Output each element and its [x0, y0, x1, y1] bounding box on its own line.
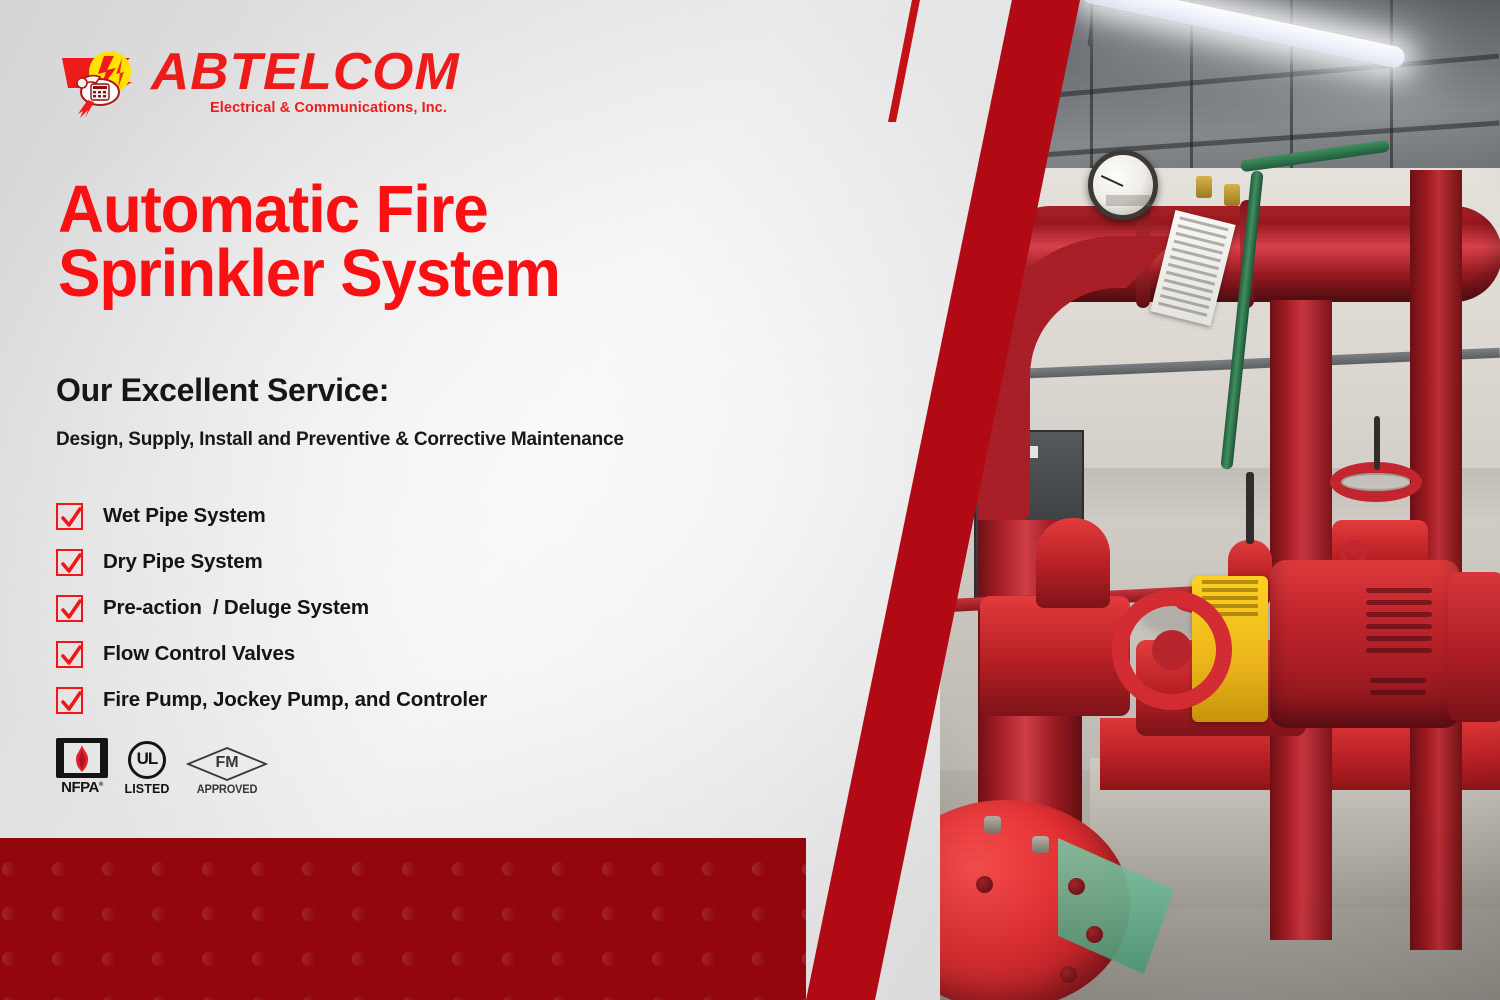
valve-stem: [1374, 416, 1380, 470]
fluorescent-ceiling-light: [1079, 0, 1406, 70]
service-heading: Our Excellent Service:: [56, 372, 389, 409]
badge-ul: UL LISTED: [122, 741, 172, 796]
fm-diamond-icon: FM: [186, 746, 268, 782]
badge-fm-label: APPROVED: [189, 782, 264, 796]
logo-wordmark: ABTELCOM: [151, 46, 460, 98]
service-description: Design, Supply, Install and Preventive &…: [56, 428, 636, 451]
headline-line-1: Automatic Fire: [58, 178, 666, 242]
headline-line-2: Sprinkler System: [58, 242, 666, 306]
abtelcom-lightning-phone-logo-icon: [58, 48, 154, 118]
red-fire-pump-motor: [1270, 560, 1460, 728]
brand-logo[interactable]: ABTELCOM Electrical & Communications, In…: [58, 48, 528, 120]
pump-handwheel-hub: [1152, 630, 1192, 670]
badge-fm: FM APPROVED: [186, 746, 268, 796]
list-item[interactable]: Dry Pipe System: [56, 539, 676, 585]
page-title: Automatic Fire Sprinkler System: [58, 178, 666, 307]
list-item-label: Fire Pump, Jockey Pump, and Controler: [103, 688, 487, 712]
nfpa-flame-icon: [56, 738, 108, 778]
pressure-gauge: [1088, 150, 1158, 220]
list-item-label: Pre-action / Deluge System: [103, 596, 369, 620]
checkbox-checked-icon[interactable]: [56, 503, 83, 530]
checkbox-checked-icon[interactable]: [56, 549, 83, 576]
badge-nfpa: NFPA®: [56, 738, 108, 796]
list-item[interactable]: Fire Pump, Jockey Pump, and Controler: [56, 677, 676, 723]
list-item[interactable]: Pre-action / Deluge System: [56, 585, 676, 631]
list-item[interactable]: Wet Pipe System: [56, 493, 676, 539]
badge-ul-monogram: UL: [131, 749, 163, 769]
second-motor: [1448, 572, 1500, 722]
checkbox-checked-icon[interactable]: [56, 595, 83, 622]
ul-circle-icon: UL: [128, 741, 166, 779]
badge-ul-label: LISTED: [122, 782, 172, 796]
list-item[interactable]: Flow Control Valves: [56, 631, 676, 677]
badge-nfpa-label: NFPA®: [56, 779, 108, 796]
list-item-label: Wet Pipe System: [103, 504, 266, 528]
list-item-label: Dry Pipe System: [103, 550, 263, 574]
poster-canvas: ABTELCOM Electrical & Communications, In…: [0, 0, 1500, 1000]
left-content: ABTELCOM Electrical & Communications, In…: [0, 0, 1060, 1000]
checkbox-checked-icon[interactable]: [56, 641, 83, 668]
service-checklist: Wet Pipe System Dry Pipe System Pre-acti…: [56, 493, 676, 723]
certification-badges: NFPA® UL LISTED FM APPROVED: [56, 738, 268, 796]
badge-fm-letters: FM: [186, 754, 268, 772]
checkbox-checked-icon[interactable]: [56, 687, 83, 714]
logo-tagline: Electrical & Communications, Inc.: [210, 100, 457, 116]
list-item-label: Flow Control Valves: [103, 642, 295, 666]
